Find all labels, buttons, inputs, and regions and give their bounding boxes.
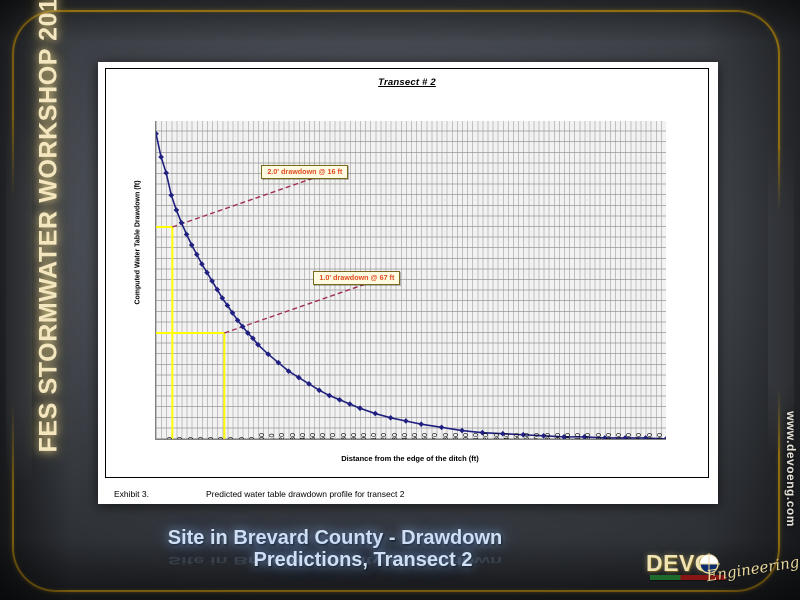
x-axis-tick-label: 110: [268, 434, 275, 440]
x-axis-tick-label: 80: [238, 437, 245, 440]
y-axis-tick-mark: [155, 195, 156, 196]
x-axis-tick-label: 230: [391, 433, 398, 440]
data-point-marker: [158, 154, 164, 160]
y-axis-tick-mark: [155, 375, 156, 376]
y-axis-tick-mark: [155, 163, 156, 164]
x-axis-tick-label: 370: [533, 433, 540, 440]
x-axis-tick-label: 280: [442, 433, 449, 440]
annotation-leader-line: [172, 175, 322, 227]
x-axis-tick-label: 420: [584, 433, 591, 440]
x-axis-tick-label: 220: [380, 433, 387, 440]
x-axis-tick-label: 410: [574, 433, 581, 440]
data-point-marker: [403, 418, 409, 424]
y-axis-tick-mark: [155, 142, 156, 143]
data-point-marker: [163, 170, 169, 176]
chart-plot-area: 3.02.92.82.72.62.52.42.32.22.12.01.91.81…: [155, 121, 666, 440]
x-axis-tick-label: 490: [656, 433, 663, 440]
x-axis-tick-label: 40: [197, 437, 204, 440]
y-axis-tick-mark: [155, 174, 156, 175]
slide-title-line2: Predictions, Transect 2: [120, 550, 550, 572]
y-axis-tick-mark: [155, 248, 156, 249]
y-axis-tick-mark: [155, 216, 156, 217]
x-axis-tick-label: 10: [166, 437, 173, 440]
y-axis-tick-mark: [155, 280, 156, 281]
data-point-marker: [194, 252, 200, 258]
x-axis-tick-label: 30: [187, 437, 194, 440]
data-point-marker: [347, 401, 353, 407]
x-axis-tick-label: 100: [258, 433, 265, 440]
y-axis-tick-mark: [155, 312, 156, 313]
x-axis-tick-label: 460: [625, 433, 632, 440]
x-axis-tick-label: 380: [544, 433, 551, 440]
x-axis-tick-label: 340: [503, 433, 510, 440]
y-axis-tick-mark: [155, 291, 156, 292]
presentation-slide: FES STORMWATER WORKSHOP 2011 www.devoeng…: [0, 0, 800, 600]
x-axis-tick-label: 250: [411, 433, 418, 440]
x-axis-tick-label: 310: [472, 433, 479, 440]
x-axis-tick-label: 480: [646, 433, 653, 440]
y-axis-label: Computed Water Table Drawdown (ft): [135, 148, 142, 338]
x-axis-tick-label: 120: [278, 433, 285, 440]
frame-gap-left: [6, 120, 32, 480]
exhibit-caption-text: Predicted water table drawdown profile f…: [206, 489, 404, 499]
x-axis-tick-label: 320: [482, 433, 489, 440]
x-axis-tick-label: 240: [401, 433, 408, 440]
data-point-marker: [184, 232, 190, 238]
x-axis-tick-label: 200: [360, 433, 367, 440]
y-axis-tick-mark: [155, 132, 156, 133]
x-axis-tick-label: 300: [462, 433, 469, 440]
x-axis-tick-label: 470: [635, 433, 642, 440]
sidebar-text-left: FES STORMWATER WORKSHOP 2011: [35, 93, 64, 453]
data-point-marker: [189, 242, 195, 248]
y-axis-tick-mark: [155, 206, 156, 207]
data-point-marker: [337, 397, 343, 403]
y-axis-tick-mark: [155, 365, 156, 366]
chart-plot-wrapper: Computed Water Table Drawdown (ft) 3.02.…: [106, 69, 710, 479]
x-axis-tick-label: 180: [340, 433, 347, 440]
x-axis-tick-label: 360: [523, 433, 530, 440]
sidebar-text-right: www.devoeng.com: [784, 379, 798, 559]
y-axis-tick-mark: [155, 407, 156, 408]
x-axis-tick-label: 400: [564, 433, 571, 440]
exhibit-inner-border: Transect # 2 Computed Water Table Drawdo…: [105, 68, 709, 478]
x-axis-tick-label: 290: [452, 433, 459, 440]
x-axis-tick-label: 150: [309, 433, 316, 440]
x-axis-tick-label: 330: [493, 433, 500, 440]
x-axis-tick-label: 190: [350, 433, 357, 440]
y-axis-tick-mark: [155, 322, 156, 323]
y-axis-tick-mark: [155, 153, 156, 154]
x-axis-tick-label: 50: [207, 437, 214, 440]
y-axis-tick-mark: [155, 227, 156, 228]
x-axis-tick-label: 260: [421, 433, 428, 440]
x-axis-tick-label: 130: [289, 433, 296, 440]
x-axis-tick-label: 390: [554, 433, 561, 440]
y-axis-tick-mark: [155, 428, 156, 429]
y-axis-tick-mark: [155, 418, 156, 419]
y-axis-tick-mark: [155, 259, 156, 260]
y-axis-tick-mark: [155, 397, 156, 398]
x-axis-tick-label: 160: [319, 433, 326, 440]
data-point-marker: [174, 207, 180, 213]
x-axis-tick-label: 430: [595, 433, 602, 440]
data-point-marker: [327, 393, 333, 399]
x-axis-tick-label: 60: [217, 437, 224, 440]
data-point-marker: [168, 192, 174, 198]
x-axis-label: Distance from the edge of the ditch (ft): [155, 454, 665, 463]
y-axis-tick-mark: [155, 439, 156, 440]
slide-title: Site in Brevard County - Drawdown Predic…: [120, 528, 550, 571]
chart-series-svg: [156, 121, 666, 439]
y-axis-tick-mark: [155, 121, 156, 122]
x-axis-tick-label: 170: [329, 433, 336, 440]
slide-title-line1: Site in Brevard County - Drawdown: [168, 527, 502, 549]
y-axis-tick-mark: [155, 185, 156, 186]
chart-annotation-callout: 2.0' drawdown @ 16 ft: [261, 165, 348, 179]
x-axis-tick-label: 140: [299, 433, 306, 440]
x-axis-tick-label: 350: [513, 433, 520, 440]
x-axis-tick-label: 90: [248, 437, 255, 440]
x-axis-tick-label: 20: [176, 437, 183, 440]
chart-annotation-callout: 1.0' drawdown @ 67 ft: [313, 271, 400, 285]
y-axis-tick-mark: [155, 238, 156, 239]
data-point-marker: [179, 220, 185, 226]
y-axis-tick-mark: [155, 386, 156, 387]
y-axis-tick-mark: [155, 301, 156, 302]
x-axis-tick-label: 270: [431, 433, 438, 440]
exhibit-document: Transect # 2 Computed Water Table Drawdo…: [98, 62, 718, 504]
y-axis-tick-mark: [155, 333, 156, 334]
exhibit-caption-label: Exhibit 3.: [114, 489, 206, 499]
annotation-leader-line: [224, 281, 374, 333]
y-axis-tick-mark: [155, 269, 156, 270]
x-axis-tick-label: 210: [370, 433, 377, 440]
data-point-marker: [418, 421, 424, 427]
data-point-marker: [372, 411, 378, 417]
y-axis-tick-mark: [155, 354, 156, 355]
data-point-marker: [388, 415, 394, 421]
exhibit-caption: Exhibit 3.Predicted water table drawdown…: [114, 489, 718, 499]
y-axis-tick-mark: [155, 344, 156, 345]
devo-engineering-logo[interactable]: DEVO Engineering: [646, 548, 770, 592]
data-series-line: [156, 134, 666, 439]
x-axis-tick-label: 440: [605, 433, 612, 440]
data-point-marker: [439, 425, 445, 431]
data-point-marker: [357, 405, 363, 411]
x-axis-tick-label: 450: [615, 433, 622, 440]
x-axis-tick-label: 70: [227, 437, 234, 440]
